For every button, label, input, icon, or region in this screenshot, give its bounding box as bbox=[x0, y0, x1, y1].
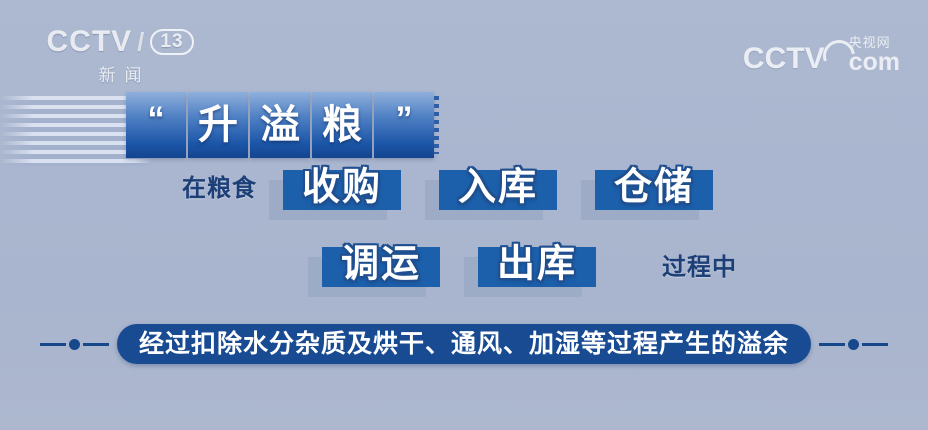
banner-text: 经过扣除水分杂质及烘干、通风、加湿等过程产生的溢余 bbox=[139, 332, 789, 357]
watermark-text-group: 央视网 com bbox=[849, 36, 900, 74]
deco-line bbox=[40, 343, 66, 346]
chip-label: 仓储 bbox=[614, 169, 694, 207]
headline-char-cell: 粮 bbox=[312, 92, 372, 158]
headline-char-cell: 升 bbox=[188, 92, 248, 158]
headline-char-cell: 溢 bbox=[250, 92, 310, 158]
chip-label: 出库 bbox=[497, 246, 577, 284]
line-dot-line-icon-right bbox=[819, 339, 888, 350]
line-dot-line-icon-left bbox=[40, 339, 109, 350]
process-chip-shougou: 收购 bbox=[283, 168, 401, 212]
bottom-banner: 经过扣除水分杂质及烘干、通风、加湿等过程产生的溢余 bbox=[0, 322, 928, 366]
channel-bug-logo: CCTV / 13 bbox=[50, 26, 190, 58]
headline-open-quote: “ bbox=[148, 102, 165, 136]
process-tail-label: 过程中 bbox=[662, 253, 737, 289]
headline-open-quote-cell: “ bbox=[126, 92, 186, 158]
deco-line bbox=[862, 343, 888, 346]
cctv-com-watermark: CCTV 央视网 com bbox=[743, 28, 900, 74]
process-lead-label: 在粮食 bbox=[182, 174, 257, 212]
chip-label: 入库 bbox=[458, 169, 538, 207]
arc-swoosh-icon bbox=[823, 40, 853, 74]
banner-pill: 经过扣除水分杂质及烘干、通风、加湿等过程产生的溢余 bbox=[117, 324, 811, 364]
deco-dot bbox=[69, 339, 80, 350]
chip-label: 收购 bbox=[302, 169, 382, 207]
watermark-domain-label: com bbox=[849, 50, 900, 74]
process-chip-chuku: 出库 bbox=[478, 245, 596, 289]
broadcast-graphic-frame: CCTV / 13 新闻 CCTV 央视网 com “ 升 溢 粮 ” bbox=[0, 0, 928, 430]
deco-line bbox=[819, 343, 845, 346]
chip-label: 调运 bbox=[341, 246, 421, 284]
process-row-one: 在粮食 收购 入库 仓储 bbox=[182, 168, 713, 212]
channel-bug: CCTV / 13 新闻 bbox=[50, 26, 190, 88]
watermark-network-label: CCTV bbox=[743, 44, 825, 74]
process-chip-cangchu: 仓储 bbox=[595, 168, 713, 212]
headline-close-quote-cell: ” bbox=[374, 92, 434, 158]
headline-char-1: 升 bbox=[198, 105, 238, 145]
headline-close-quote: ” bbox=[396, 102, 413, 136]
headline-char-2: 溢 bbox=[260, 105, 300, 145]
channel-number-badge: 13 bbox=[150, 29, 193, 55]
process-chip-diaoyun: 调运 bbox=[322, 245, 440, 289]
process-chip-ruku: 入库 bbox=[439, 168, 557, 212]
deco-dot bbox=[848, 339, 859, 350]
channel-network-label: CCTV bbox=[46, 26, 132, 58]
headline-char-3: 粮 bbox=[322, 105, 362, 145]
process-row-two: 调运 出库 过程中 bbox=[322, 245, 737, 289]
deco-line bbox=[83, 343, 109, 346]
channel-separator: / bbox=[137, 26, 145, 58]
channel-name-label: 新闻 bbox=[50, 61, 190, 86]
headline-block: “ 升 溢 粮 ” bbox=[126, 92, 434, 158]
